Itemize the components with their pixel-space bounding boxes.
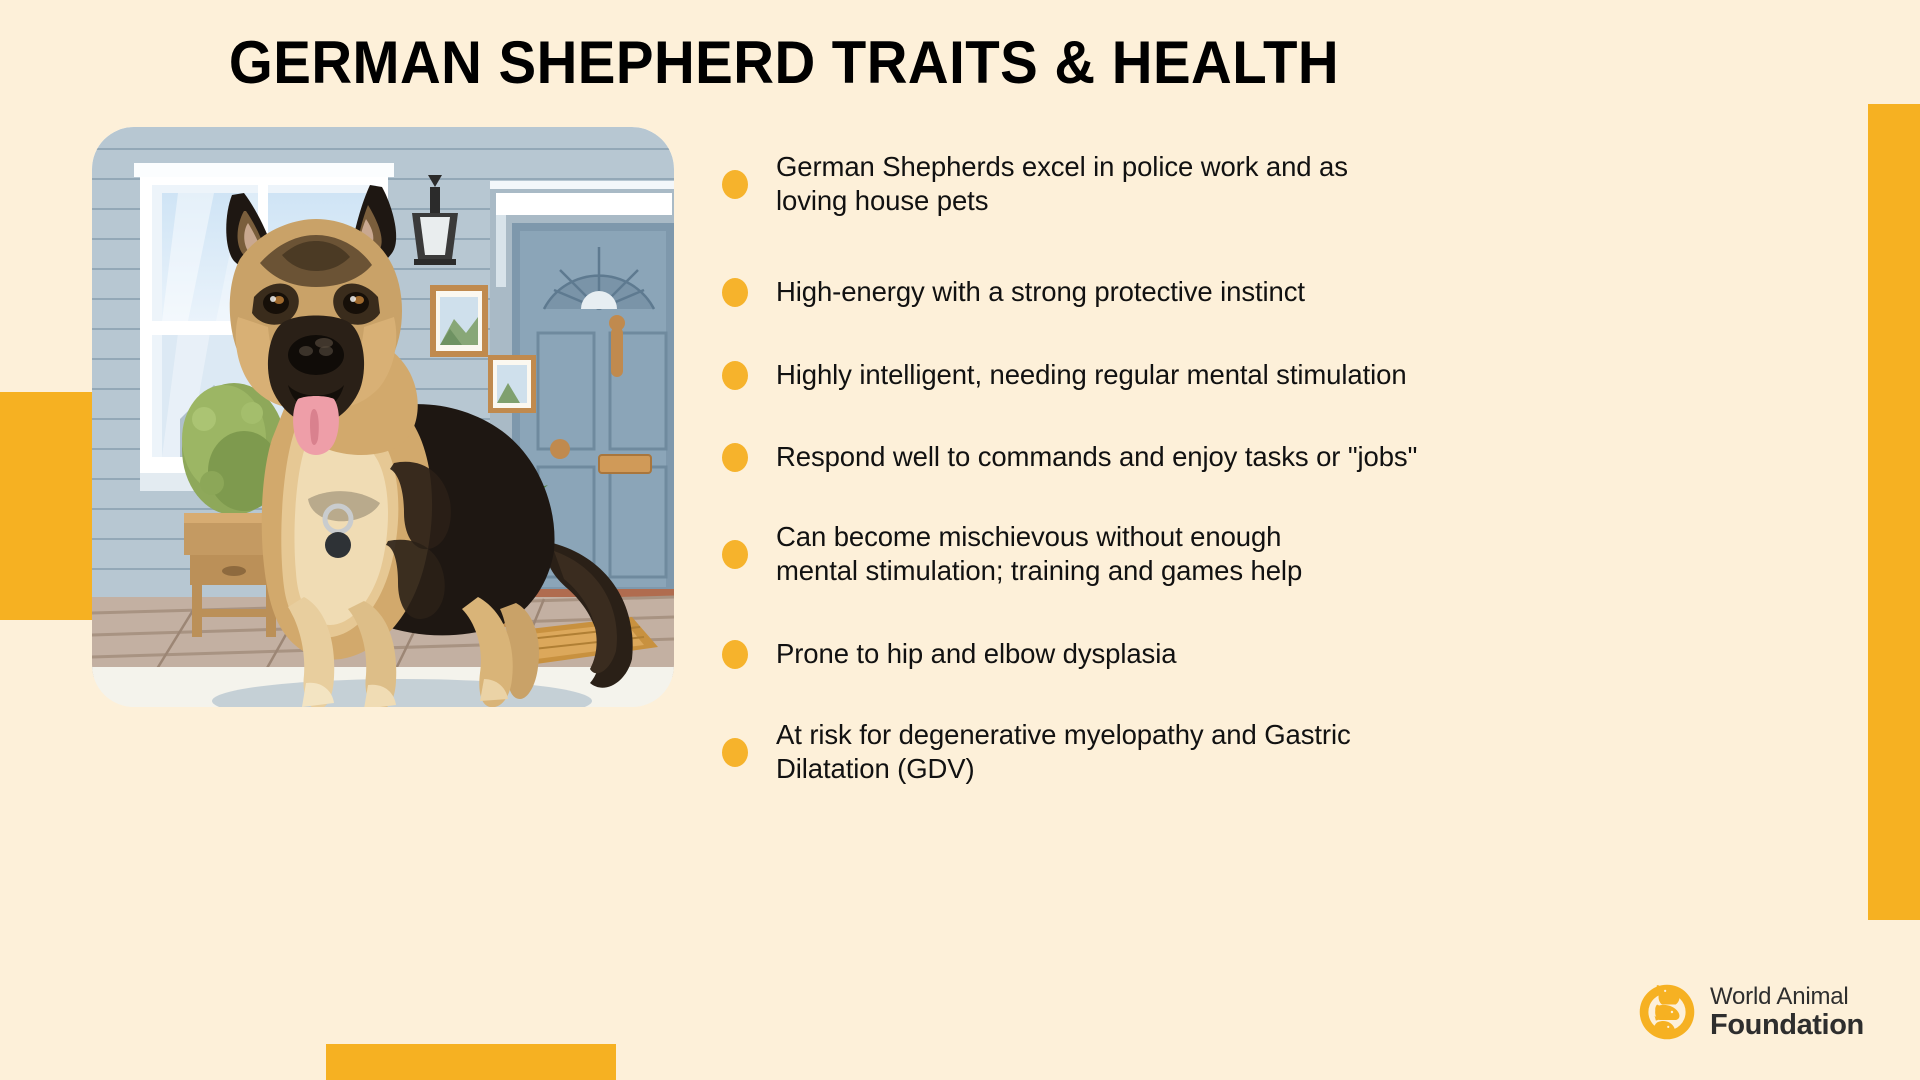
bullet-dot-icon [722, 361, 748, 390]
list-item: Respond well to commands and enjoy tasks… [722, 440, 1542, 474]
list-item: High-energy with a strong protective ins… [722, 275, 1542, 309]
list-item-label: At risk for degenerative myelopathy and … [776, 718, 1542, 786]
list-item-label: Can become mischievous without enough me… [776, 520, 1542, 588]
page-title: GERMAN SHEPHERD TRAITS & HEALTH [47, 28, 1521, 98]
list-item: Highly intelligent, needing regular ment… [722, 358, 1542, 392]
bullet-dot-icon [722, 170, 748, 199]
accent-bar-right [1868, 104, 1920, 920]
list-item: German Shepherds excel in police work an… [722, 150, 1542, 218]
world-animal-foundation-logo: World Animal Foundation [1636, 975, 1904, 1049]
list-item-label: German Shepherds excel in police work an… [776, 150, 1542, 218]
list-item-label: High-energy with a strong protective ins… [776, 275, 1542, 309]
list-item: Can become mischievous without enough me… [722, 520, 1542, 588]
illustration-card [92, 127, 674, 707]
accent-bar-bottom [326, 1044, 616, 1080]
list-item: At risk for degenerative myelopathy and … [722, 718, 1542, 786]
bullet-dot-icon [722, 540, 748, 569]
bullet-dot-icon [722, 640, 748, 669]
bullet-dot-icon [722, 443, 748, 472]
list-item-label: Prone to hip and elbow dysplasia [776, 637, 1542, 671]
german-shepherd-on-porch-illustration [92, 127, 674, 707]
logo-line-foundation: Foundation [1710, 1010, 1864, 1041]
list-item: Prone to hip and elbow dysplasia [722, 637, 1542, 671]
logo-wordmark: World Animal Foundation [1710, 984, 1864, 1041]
logo-line-world-animal: World Animal [1710, 984, 1864, 1010]
world-animal-foundation-logo-icon [1636, 981, 1698, 1043]
bullet-dot-icon [722, 278, 748, 307]
infographic-canvas: GERMAN SHEPHERD TRAITS & HEALTH [0, 0, 1920, 1080]
bullet-dot-icon [722, 738, 748, 767]
list-item-label: Respond well to commands and enjoy tasks… [776, 440, 1542, 474]
list-item-label: Highly intelligent, needing regular ment… [776, 358, 1542, 392]
